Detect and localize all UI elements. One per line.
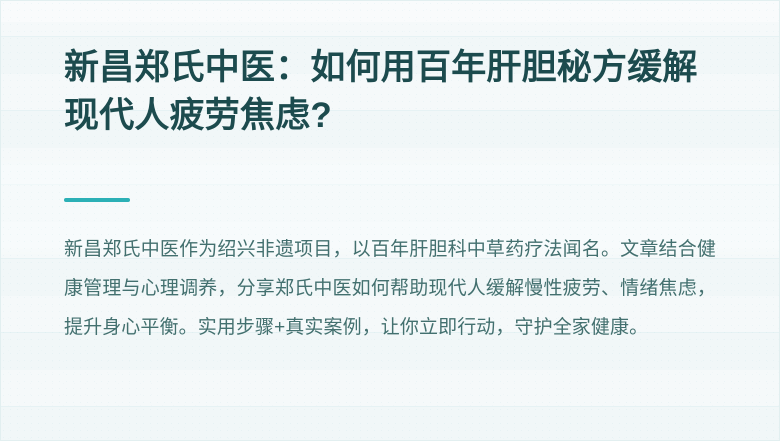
card-content: 新昌郑氏中医：如何用百年肝胆秘方缓解现代人疲劳焦虑? 新昌郑氏中医作为绍兴非遗项… <box>0 0 780 441</box>
article-cover-card: 新昌郑氏中医：如何用百年肝胆秘方缓解现代人疲劳焦虑? 新昌郑氏中医作为绍兴非遗项… <box>0 0 780 441</box>
summary-paragraph: 新昌郑氏中医作为绍兴非遗项目，以百年肝胆科中草药疗法闻名。文章结合健康管理与心理… <box>64 230 716 347</box>
page-title: 新昌郑氏中医：如何用百年肝胆秘方缓解现代人疲劳焦虑? <box>64 44 724 140</box>
title-divider <box>64 198 130 202</box>
